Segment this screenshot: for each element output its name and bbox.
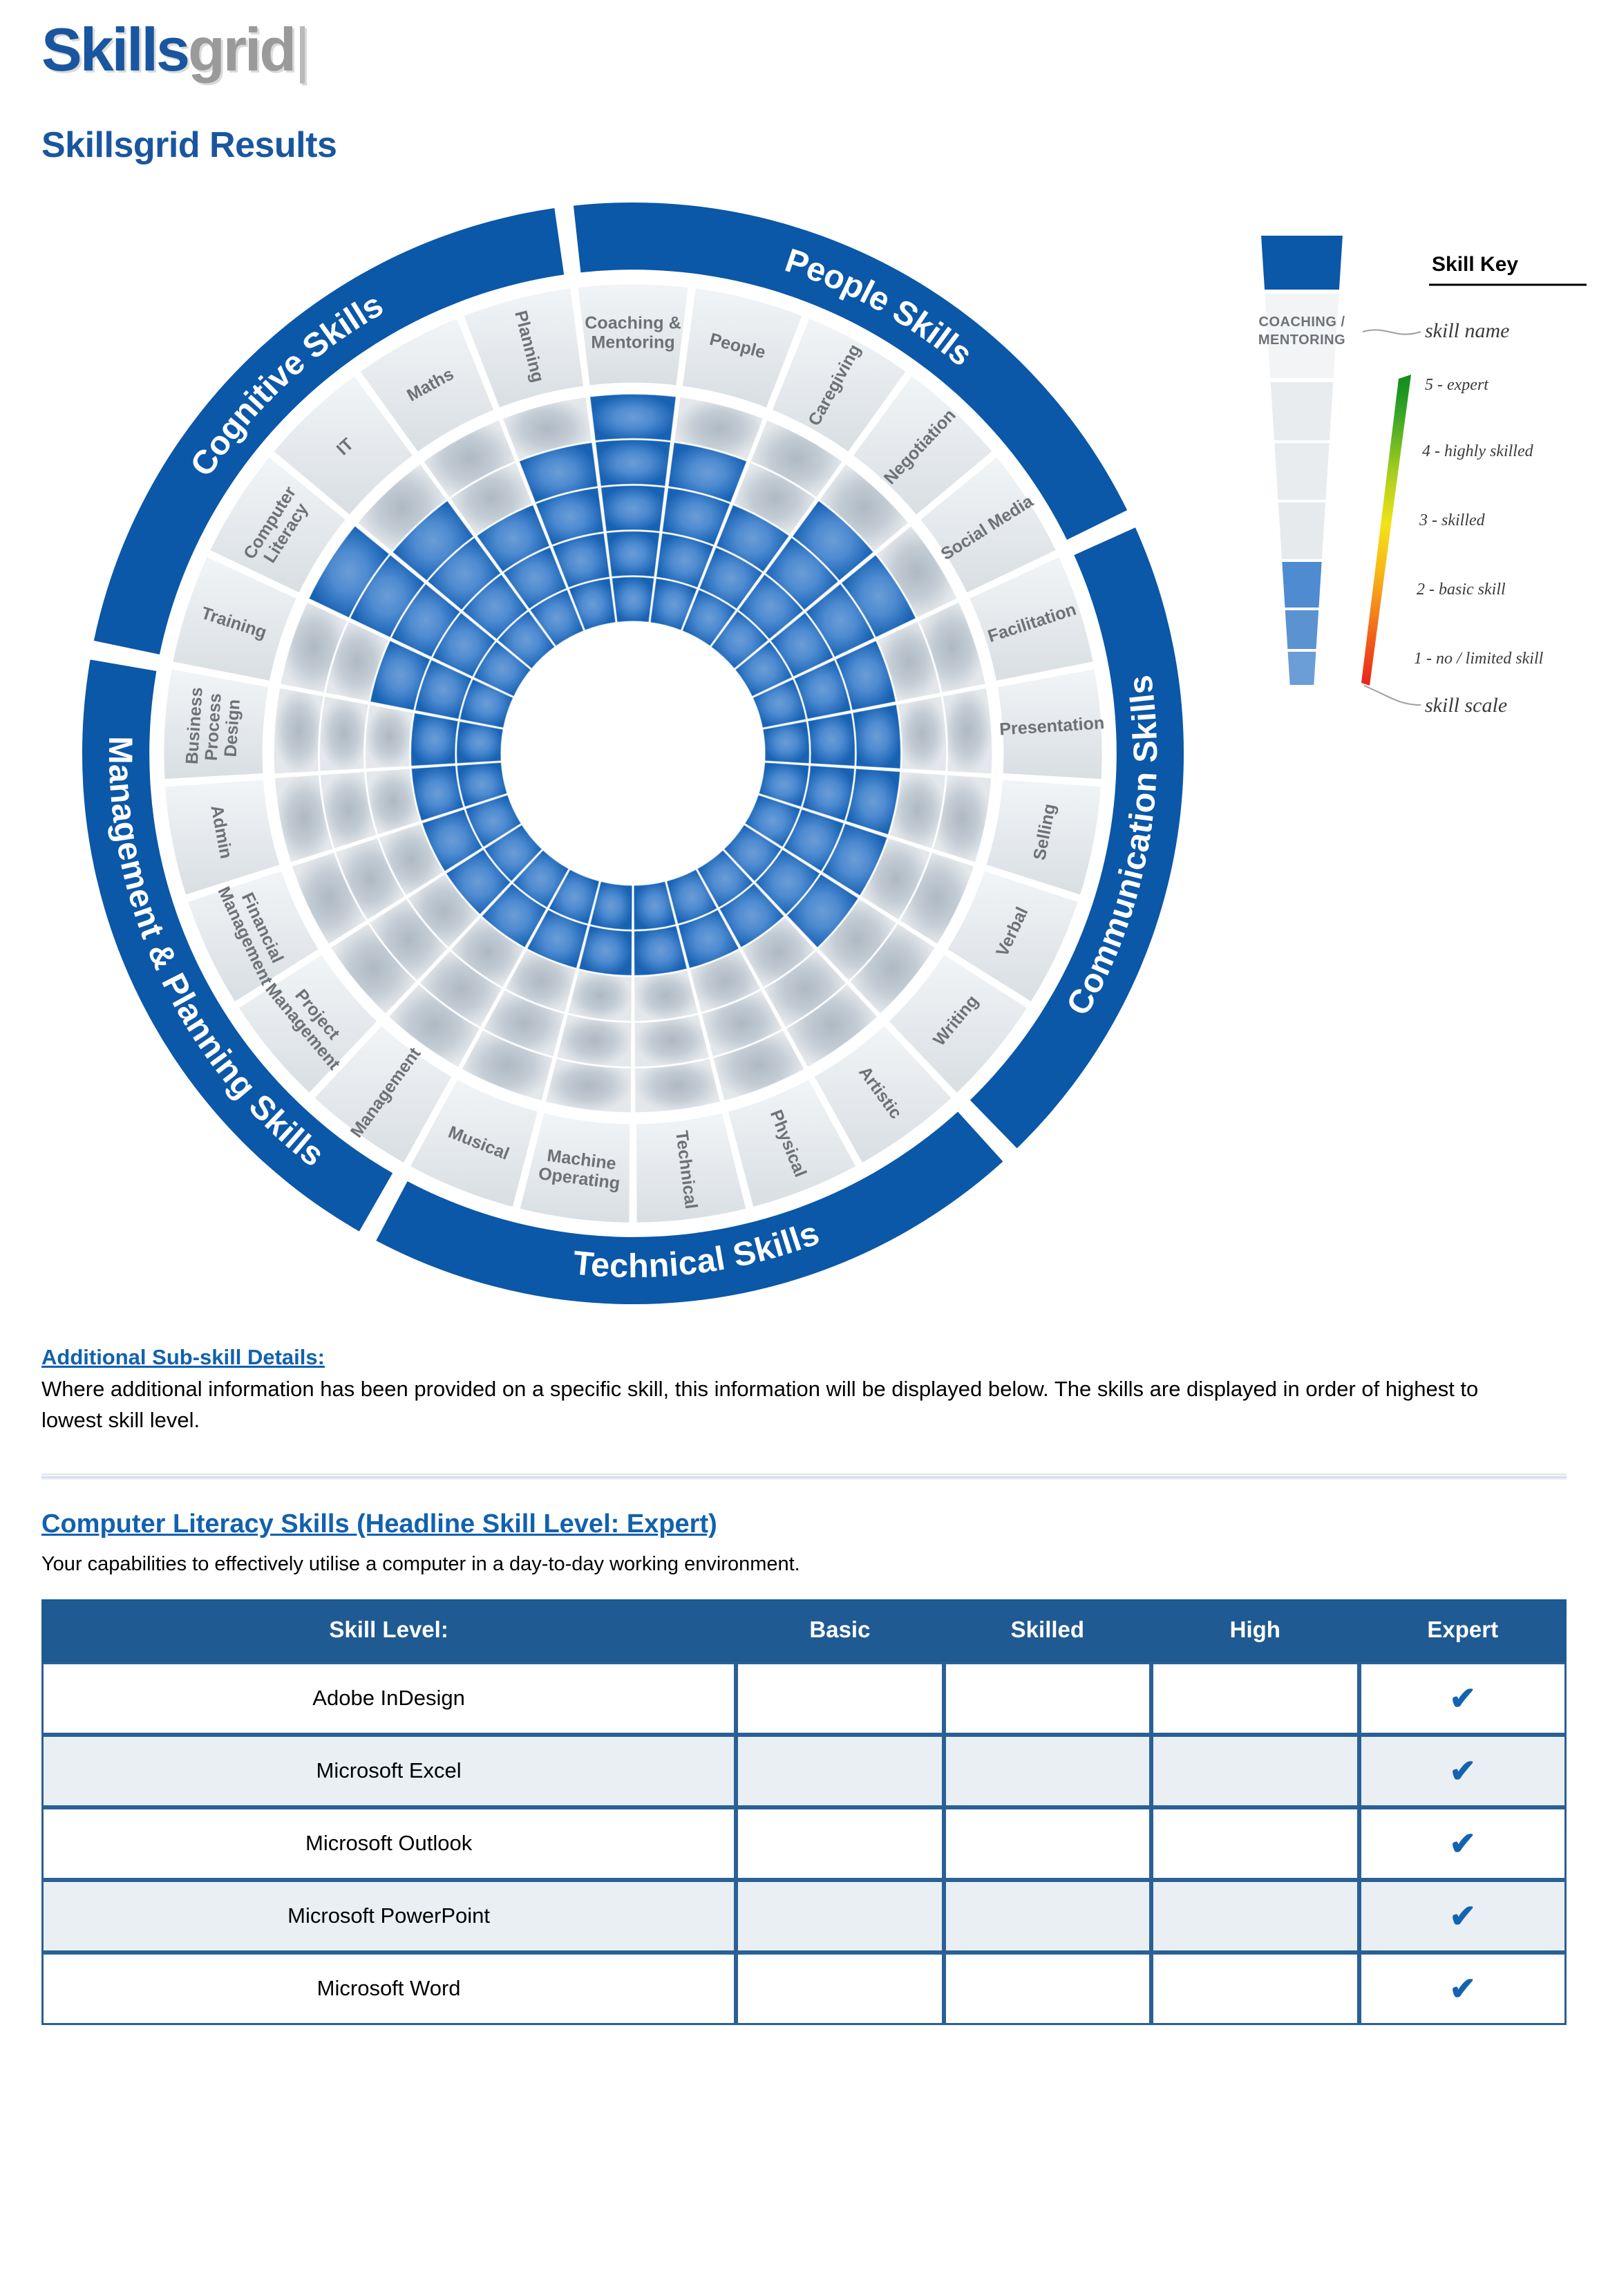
logo-text-primary: Skills [41, 15, 188, 84]
wheel-ring-cell[interactable] [607, 531, 660, 577]
detail-section-description: Your capabilities to effectively utilise… [41, 1553, 1583, 1576]
cell-basic [736, 1880, 943, 1952]
wheel-ring-cell[interactable] [853, 705, 901, 769]
key-callout-line-name [1363, 330, 1421, 334]
cell-basic [736, 1807, 943, 1880]
report-page: Skillsgrid| Skillsgrid Results [0, 0, 1608, 2025]
check-icon: ✔ [1449, 1680, 1476, 1716]
cell-high [1151, 1662, 1359, 1735]
wheel-ring-cell[interactable] [579, 926, 632, 976]
table-row: Microsoft Outlook✔ [41, 1807, 1567, 1880]
key-scale-label: 1 - no / limited skill [1414, 650, 1544, 668]
key-callout-line-scale [1364, 686, 1421, 705]
wheel-ring-cell[interactable] [365, 705, 413, 769]
key-ring-0 [1287, 651, 1317, 686]
wheel-ring-cell[interactable] [612, 577, 654, 623]
key-callout-skill-name: skill name [1425, 319, 1509, 342]
column-header-basic: Basic [736, 1599, 943, 1662]
skill-levels-table: Skill Level: Basic Skilled High Expert A… [41, 1599, 1567, 2025]
page-title: Skillsgrid Results [41, 124, 1583, 166]
cell-skilled [944, 1735, 1151, 1807]
table-row: Microsoft PowerPoint✔ [41, 1880, 1567, 1952]
cell-skilled [944, 1880, 1151, 1952]
cell-basic [736, 1952, 943, 2025]
skills-wheel[interactable]: Coaching &MentoringPeopleCaregivingNegot… [66, 194, 1200, 1313]
logo-bar-icon: | [294, 15, 308, 84]
wheel-ring-cell[interactable] [457, 722, 503, 764]
wheel-ring-cell[interactable] [898, 697, 947, 771]
column-header-skilled: Skilled [944, 1599, 1151, 1662]
check-icon: ✔ [1449, 1825, 1476, 1861]
key-ring-5 [1270, 382, 1334, 441]
skills-wheel-svg[interactable]: Coaching &MentoringPeopleCaregivingNegot… [66, 194, 1200, 1313]
table-row: Adobe InDesign✔ [41, 1662, 1567, 1735]
table-row: Microsoft Word✔ [41, 1952, 1567, 2025]
key-ring-2 [1281, 561, 1323, 608]
key-ring-3 [1278, 502, 1327, 560]
cell-skill-name: Adobe InDesign [41, 1662, 736, 1735]
additional-details-paragraph: Where additional information has been pr… [41, 1374, 1506, 1436]
key-scale-label: 3 - skilled [1419, 511, 1486, 529]
key-scale-label: 4 - highly skilled [1422, 442, 1534, 460]
cell-skilled [944, 1952, 1151, 2025]
table-header-row: Skill Level: Basic Skilled High Expert [41, 1599, 1567, 1662]
wheel-ring-cell[interactable] [319, 697, 368, 771]
key-ring-1 [1285, 610, 1320, 650]
wheel-ring-cell[interactable] [634, 970, 698, 1022]
wheel-center-hub [503, 623, 763, 883]
wheel-ring-cell[interactable] [557, 1015, 632, 1067]
logo-text-secondary: grid [188, 15, 294, 84]
wheel-ring-cell[interactable] [634, 926, 687, 976]
wheel-ring-cell[interactable] [763, 722, 809, 764]
cell-skill-name: Microsoft PowerPoint [41, 1880, 736, 1952]
detail-section-heading[interactable]: Computer Literacy Skills (Headline Skill… [41, 1509, 1583, 1539]
section-divider [41, 1474, 1567, 1480]
graphic-row: Coaching &MentoringPeopleCaregivingNegot… [25, 194, 1583, 1327]
skill-key-svg: COACHING /MENTORINGSkill Key5 - expert4 … [1213, 221, 1600, 746]
column-header-high: High [1151, 1599, 1359, 1662]
cell-high [1151, 1735, 1359, 1807]
column-header-skill-level: Skill Level: [41, 1599, 736, 1662]
wheel-segment-label: BusinessProcessDesign [182, 686, 244, 767]
wheel-ring-cell[interactable] [943, 688, 992, 774]
wheel-ring-cell[interactable] [808, 713, 855, 766]
key-title: Skill Key [1432, 253, 1518, 276]
cell-skilled [944, 1807, 1151, 1880]
check-icon: ✔ [1449, 1970, 1476, 2006]
key-group-band [1260, 235, 1343, 290]
wheel-ring-cell[interactable] [634, 1015, 709, 1067]
cell-skill-name: Microsoft Outlook [41, 1807, 736, 1880]
table-row: Microsoft Excel✔ [41, 1735, 1567, 1807]
wheel-ring-cell[interactable] [601, 485, 665, 531]
skill-key: COACHING /MENTORINGSkill Key5 - expert4 … [1213, 221, 1600, 746]
cell-skill-name: Microsoft Excel [41, 1735, 736, 1807]
wheel-ring-cell[interactable] [411, 713, 458, 766]
cell-basic [736, 1735, 943, 1807]
check-icon: ✔ [1449, 1753, 1476, 1789]
cell-high [1151, 1880, 1359, 1952]
cell-expert: ✔ [1359, 1880, 1567, 1952]
key-scale-label: 5 - expert [1425, 376, 1489, 394]
cell-high [1151, 1807, 1359, 1880]
cell-skill-name: Microsoft Word [41, 1952, 736, 2025]
check-icon: ✔ [1449, 1898, 1476, 1934]
wheel-ring-cell[interactable] [568, 970, 632, 1022]
cell-skilled [944, 1662, 1151, 1735]
brand-logo: Skillsgrid| [25, 0, 1583, 104]
key-callout-skill-scale: skill scale [1425, 694, 1507, 717]
key-scale-label: 2 - basic skill [1417, 581, 1506, 599]
wheel-ring-cell[interactable] [590, 394, 676, 440]
key-ring-4 [1274, 442, 1330, 500]
wheel-ring-cell[interactable] [596, 440, 671, 486]
cell-expert: ✔ [1359, 1807, 1567, 1880]
cell-expert: ✔ [1359, 1735, 1567, 1807]
cell-expert: ✔ [1359, 1952, 1567, 2025]
cell-basic [736, 1662, 943, 1735]
column-header-expert: Expert [1359, 1599, 1567, 1662]
wheel-ring-cell[interactable] [274, 688, 323, 774]
additional-details-heading: Additional Sub-skill Details: [41, 1345, 1583, 1370]
wheel-segment-label: Coaching &Mentoring [585, 313, 681, 352]
key-scale-bar [1361, 375, 1411, 686]
cell-expert: ✔ [1359, 1662, 1567, 1735]
cell-high [1151, 1952, 1359, 2025]
